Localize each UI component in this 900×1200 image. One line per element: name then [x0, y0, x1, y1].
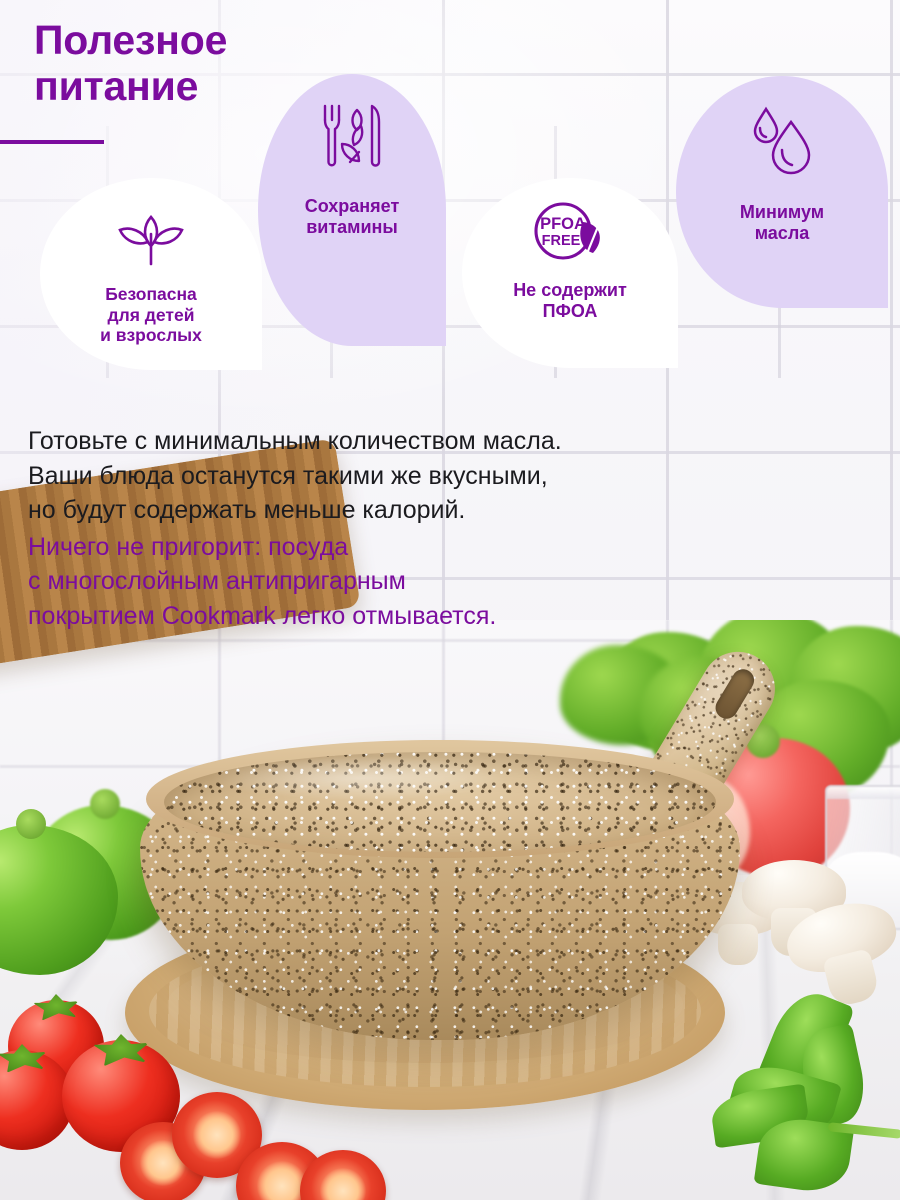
- pan-highlight: [210, 756, 510, 800]
- badge-preserves-vitamins[interactable]: Сохраняет витамины: [258, 74, 446, 346]
- paragraph-primary: Готовьте с минимальным количеством масла…: [28, 424, 688, 528]
- pepper-stalk: [90, 789, 120, 819]
- frying-pan: [120, 720, 800, 1060]
- badge-label: Минимум масла: [740, 202, 824, 244]
- svg-text:PFOA: PFOA: [540, 215, 586, 233]
- pan-body: [140, 740, 740, 1040]
- oil-droplets-icon: [751, 106, 813, 178]
- sprout-leaves-icon: [114, 204, 188, 268]
- badge-label: Сохраняет витамины: [305, 196, 400, 238]
- pfoa-free-seal-icon: PFOA FREE: [531, 200, 609, 262]
- badge-label: Не содержит ПФОА: [513, 280, 627, 322]
- paragraph-accent: Ничего не пригорит: посуда с многослойны…: [28, 530, 688, 634]
- fork-knife-leaf-icon: [316, 100, 388, 172]
- badge-label: Безопасна для детей и взрослых: [100, 284, 202, 346]
- body-copy: Готовьте с минимальным количеством масла…: [28, 424, 688, 633]
- title-divider: [0, 140, 104, 144]
- badge-pfoa-free[interactable]: PFOA FREE Не содержит ПФОА: [462, 178, 678, 368]
- badge-minimum-oil[interactable]: Минимум масла: [676, 76, 888, 308]
- jar-rim: [825, 787, 900, 799]
- promo-canvas: Полезное питание Безопасна для детей и в…: [0, 0, 900, 1200]
- badge-safe-for-children[interactable]: Безопасна для детей и взрослых: [40, 178, 262, 370]
- svg-text:FREE: FREE: [542, 233, 581, 249]
- pepper-stalk: [16, 809, 46, 839]
